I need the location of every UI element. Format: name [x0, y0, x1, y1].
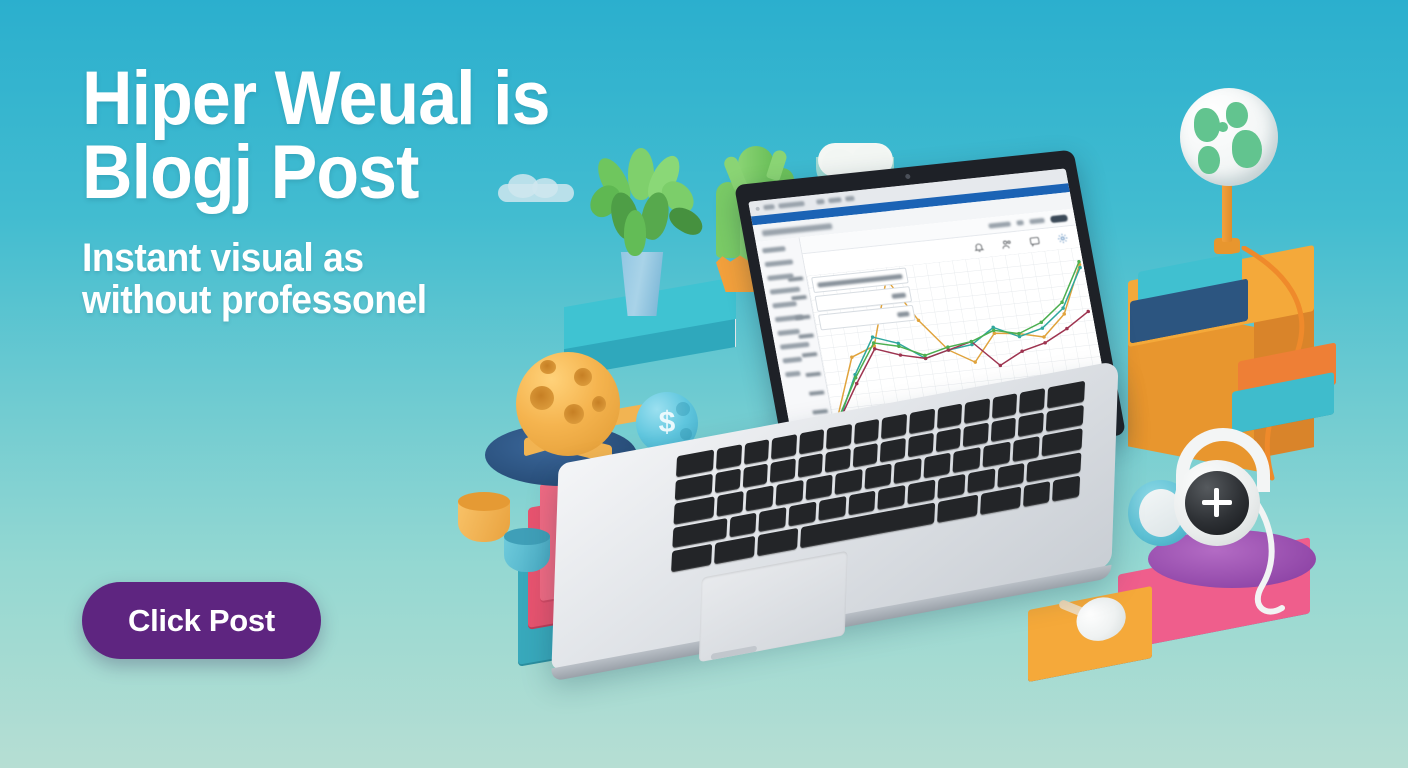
keyboard-key[interactable] — [963, 422, 989, 447]
keyboard-key[interactable] — [894, 458, 922, 484]
keyboard-key[interactable] — [729, 512, 757, 538]
y-tick-label — [805, 371, 821, 377]
keyboard-key[interactable] — [788, 501, 816, 527]
keyboard-key[interactable] — [715, 468, 741, 493]
keyboard-key[interactable] — [1019, 388, 1045, 413]
keyboard-key[interactable] — [746, 486, 774, 512]
keyboard-key[interactable] — [826, 424, 852, 449]
keyboard-key[interactable] — [980, 487, 1021, 515]
keyboard-key[interactable] — [716, 444, 742, 469]
keyboard-key[interactable] — [880, 437, 906, 462]
filter-card-label — [817, 273, 903, 287]
filter-card-label — [891, 292, 906, 298]
keyboard-key[interactable] — [997, 463, 1025, 489]
topbar-text — [1029, 217, 1045, 223]
subhead-line-2: without professonel — [82, 279, 603, 321]
keyboard-key[interactable] — [805, 475, 833, 501]
bell-icon[interactable] — [972, 241, 985, 253]
keyboard-key[interactable] — [991, 417, 1017, 442]
keyboard-key[interactable] — [776, 480, 804, 506]
keyboard-key[interactable] — [923, 453, 951, 479]
keyboard-key[interactable] — [742, 463, 768, 488]
settings-icon[interactable] — [1056, 232, 1069, 244]
keyboard-key[interactable] — [983, 442, 1011, 468]
page-subtitle: Instant visual as without professonel — [82, 237, 603, 321]
laptop — [555, 165, 1135, 705]
keyboard-key[interactable] — [908, 432, 934, 457]
browser-url-text[interactable] — [778, 201, 805, 209]
topbar-text — [1016, 220, 1024, 226]
banner-stage: $ — [0, 0, 1408, 768]
topbar-text — [988, 221, 1011, 228]
headline-line-1: Hiper Weual is — [82, 56, 550, 141]
keyboard-key[interactable] — [671, 544, 712, 572]
y-tick-label — [791, 295, 807, 301]
keyboard-key[interactable] — [1052, 476, 1080, 502]
keyboard-key[interactable] — [937, 495, 978, 523]
keyboard-key[interactable] — [848, 490, 876, 516]
keyboard-key[interactable] — [714, 536, 755, 564]
keyboard-key[interactable] — [853, 443, 879, 468]
laptop-keyboard[interactable] — [671, 381, 1085, 573]
y-tick-label — [795, 314, 811, 320]
cyan-cylinder — [504, 528, 550, 572]
y-tick-label — [802, 352, 818, 358]
navy-book — [1130, 290, 1248, 332]
users-icon[interactable] — [1000, 238, 1013, 250]
banner-copy: Hiper Weual is Blogj Post Instant visual… — [82, 62, 642, 321]
keyboard-key[interactable] — [825, 448, 851, 473]
sidebar-item[interactable] — [762, 246, 786, 253]
keyboard-key[interactable] — [864, 464, 892, 490]
browser-profile-icon[interactable] — [845, 196, 855, 202]
keyboard-key[interactable] — [1012, 436, 1040, 462]
orange-cylinder — [458, 492, 510, 542]
y-tick-label — [798, 333, 814, 339]
headline-line-2: Blogj Post — [82, 136, 597, 210]
browser-tab-label — [762, 223, 833, 236]
keyboard-key[interactable] — [881, 414, 907, 439]
browser-menu-icon[interactable] — [816, 199, 825, 205]
keyboard-key[interactable] — [1018, 412, 1044, 437]
subhead-line-1: Instant visual as — [82, 237, 603, 279]
keyboard-key[interactable] — [757, 528, 798, 556]
keyboard-key[interactable] — [908, 479, 936, 505]
filter-card-label — [897, 311, 910, 317]
keyboard-key[interactable] — [935, 427, 961, 452]
browser-extension-icon[interactable] — [828, 197, 842, 203]
keyboard-key[interactable] — [953, 447, 981, 473]
keyboard-key[interactable] — [854, 419, 880, 444]
teal-book-right-lower — [1232, 382, 1334, 424]
topbar-action-button[interactable] — [1050, 214, 1068, 223]
keyboard-key[interactable] — [799, 429, 825, 454]
browser-back-icon[interactable] — [763, 204, 775, 210]
keyboard-key[interactable] — [759, 507, 787, 533]
keyboard-key[interactable] — [878, 485, 906, 511]
keyboard-key[interactable] — [967, 468, 995, 494]
chart-filter-cards — [811, 267, 916, 333]
keyboard-key[interactable] — [992, 393, 1018, 418]
browser-dot — [755, 206, 760, 210]
webcam-icon — [905, 174, 911, 179]
keyboard-key[interactable] — [1023, 481, 1051, 507]
keyboard-key[interactable] — [797, 453, 823, 478]
cta-button[interactable]: Click Post — [82, 582, 321, 659]
keyboard-key[interactable] — [818, 496, 846, 522]
keyboard-key[interactable] — [909, 409, 935, 434]
keyboard-key[interactable] — [744, 439, 770, 464]
globe-stand — [1222, 180, 1232, 242]
keyboard-key[interactable] — [835, 469, 863, 495]
y-tick-label — [809, 390, 825, 396]
keyboard-key[interactable] — [771, 434, 797, 459]
keyboard-key[interactable] — [964, 398, 990, 423]
page-title: Hiper Weual is Blogj Post — [82, 62, 597, 211]
plus-icon — [1214, 488, 1219, 517]
keyboard-key[interactable] — [937, 474, 965, 500]
laptop-trackpad[interactable] — [699, 551, 848, 663]
headphones-icon — [1162, 428, 1284, 546]
globe-icon — [1180, 88, 1278, 186]
sidebar-item[interactable] — [765, 259, 794, 267]
keyboard-key[interactable] — [937, 403, 963, 428]
keyboard-key[interactable] — [770, 458, 796, 483]
keyboard-key[interactable] — [716, 491, 744, 517]
y-tick-label — [788, 276, 804, 282]
chat-icon[interactable] — [1028, 235, 1041, 247]
